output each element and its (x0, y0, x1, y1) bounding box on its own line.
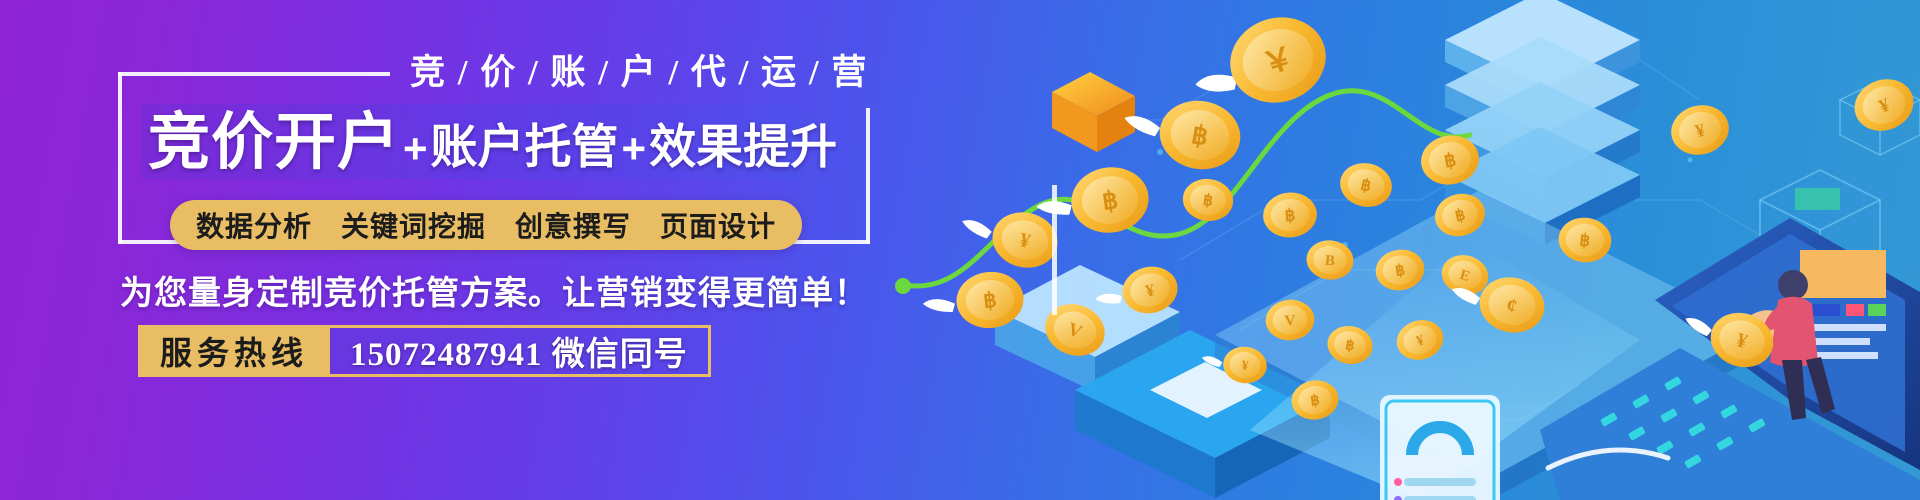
hotline-bar: 服务热线 15072487941 微信同号 (138, 325, 711, 377)
hotline-number[interactable]: 15072487941 微信同号 (330, 325, 711, 377)
headline-part-1: 竞价开户 (148, 108, 400, 177)
svg-text:E: E (1458, 267, 1472, 285)
svg-text:¥: ¥ (1017, 229, 1033, 253)
small-wire-blocks (1840, 80, 1920, 155)
svg-text:฿: ฿ (1101, 187, 1120, 216)
promo-banner: ￥ ฿ ฿ ¥ (0, 0, 1920, 500)
svg-text:B: B (1324, 253, 1336, 270)
svg-text:฿: ฿ (1443, 150, 1458, 172)
keywords-pill: 数据分析 关键词挖掘 创意撰写 页面设计 (170, 200, 802, 250)
hotline-label: 服务热线 (138, 325, 330, 377)
svg-text:฿: ฿ (1453, 206, 1467, 225)
svg-text:¥: ¥ (1144, 280, 1157, 300)
bracket-right-rule (866, 108, 870, 244)
isometric-platform (995, 265, 1330, 498)
tagline: 为您量身定制竞价托管方案。让营销变得更简单！ (120, 266, 868, 314)
svg-text:฿: ฿ (1394, 263, 1406, 280)
svg-text:V: V (1065, 319, 1085, 344)
svg-text:¥: ¥ (1733, 329, 1750, 353)
svg-text:฿: ฿ (1359, 177, 1373, 196)
headline-plus-1: + (400, 125, 431, 172)
svg-text:¢: ¢ (1504, 295, 1519, 319)
cable (1548, 450, 1668, 468)
laptop-screen-content (1800, 250, 1886, 359)
headline-block: 竞价开户+账户托管+效果提升 (142, 104, 837, 198)
green-trend-line (895, 91, 1470, 294)
svg-text:¥: ¥ (1693, 120, 1708, 142)
svg-text:฿: ฿ (1579, 230, 1592, 250)
bracket-left-rule (118, 72, 122, 244)
sparkle-dots (1098, 84, 1809, 473)
wireframe-cube (1760, 170, 1880, 305)
svg-text:฿: ฿ (982, 289, 998, 313)
svg-text:V: V (1284, 313, 1296, 330)
headline: 竞价开户+账户托管+效果提升 (142, 104, 837, 198)
pole (1052, 185, 1057, 315)
laptop-keyboard (1600, 376, 1766, 469)
circuit-lines (1090, 60, 1850, 420)
person-figure (1737, 270, 1835, 420)
svg-text:฿: ฿ (1202, 192, 1214, 210)
text-content: 竞 / 价 / 账 / 户 / 代 / 运 / 营 竞价开户+账户托管+效果提升… (0, 0, 960, 500)
winged-coins: ￥ ฿ ฿ ¥ (920, 5, 1920, 423)
pad-glow (1250, 240, 1640, 500)
headline-plus-2: + (619, 125, 650, 172)
eyebrow-text: 竞 / 价 / 账 / 户 / 代 / 运 / 营 (410, 44, 868, 95)
svg-text:฿: ฿ (1189, 120, 1210, 151)
bracket-top-rule (118, 72, 390, 76)
server-stack (1445, 0, 1640, 245)
laptop (1540, 218, 1920, 500)
svg-text:฿: ฿ (1284, 205, 1297, 225)
svg-text:¥: ¥ (1241, 357, 1250, 373)
coin-pad (1215, 190, 1760, 500)
svg-text:฿: ฿ (1309, 392, 1320, 409)
keywords-text: 数据分析 关键词挖掘 创意撰写 页面设计 (196, 205, 776, 245)
svg-text:¥: ¥ (1415, 332, 1427, 350)
tablet-chart-card (1362, 395, 1522, 500)
svg-text:￥: ￥ (1258, 39, 1299, 82)
bracket-right-bottom-rule (790, 240, 870, 244)
orange-cube (1052, 72, 1135, 152)
headline-part-2: 账户托管 (431, 120, 619, 173)
svg-text:฿: ฿ (1344, 337, 1356, 354)
svg-text:¥: ¥ (1876, 95, 1893, 118)
headline-part-3: 效果提升 (649, 120, 837, 173)
